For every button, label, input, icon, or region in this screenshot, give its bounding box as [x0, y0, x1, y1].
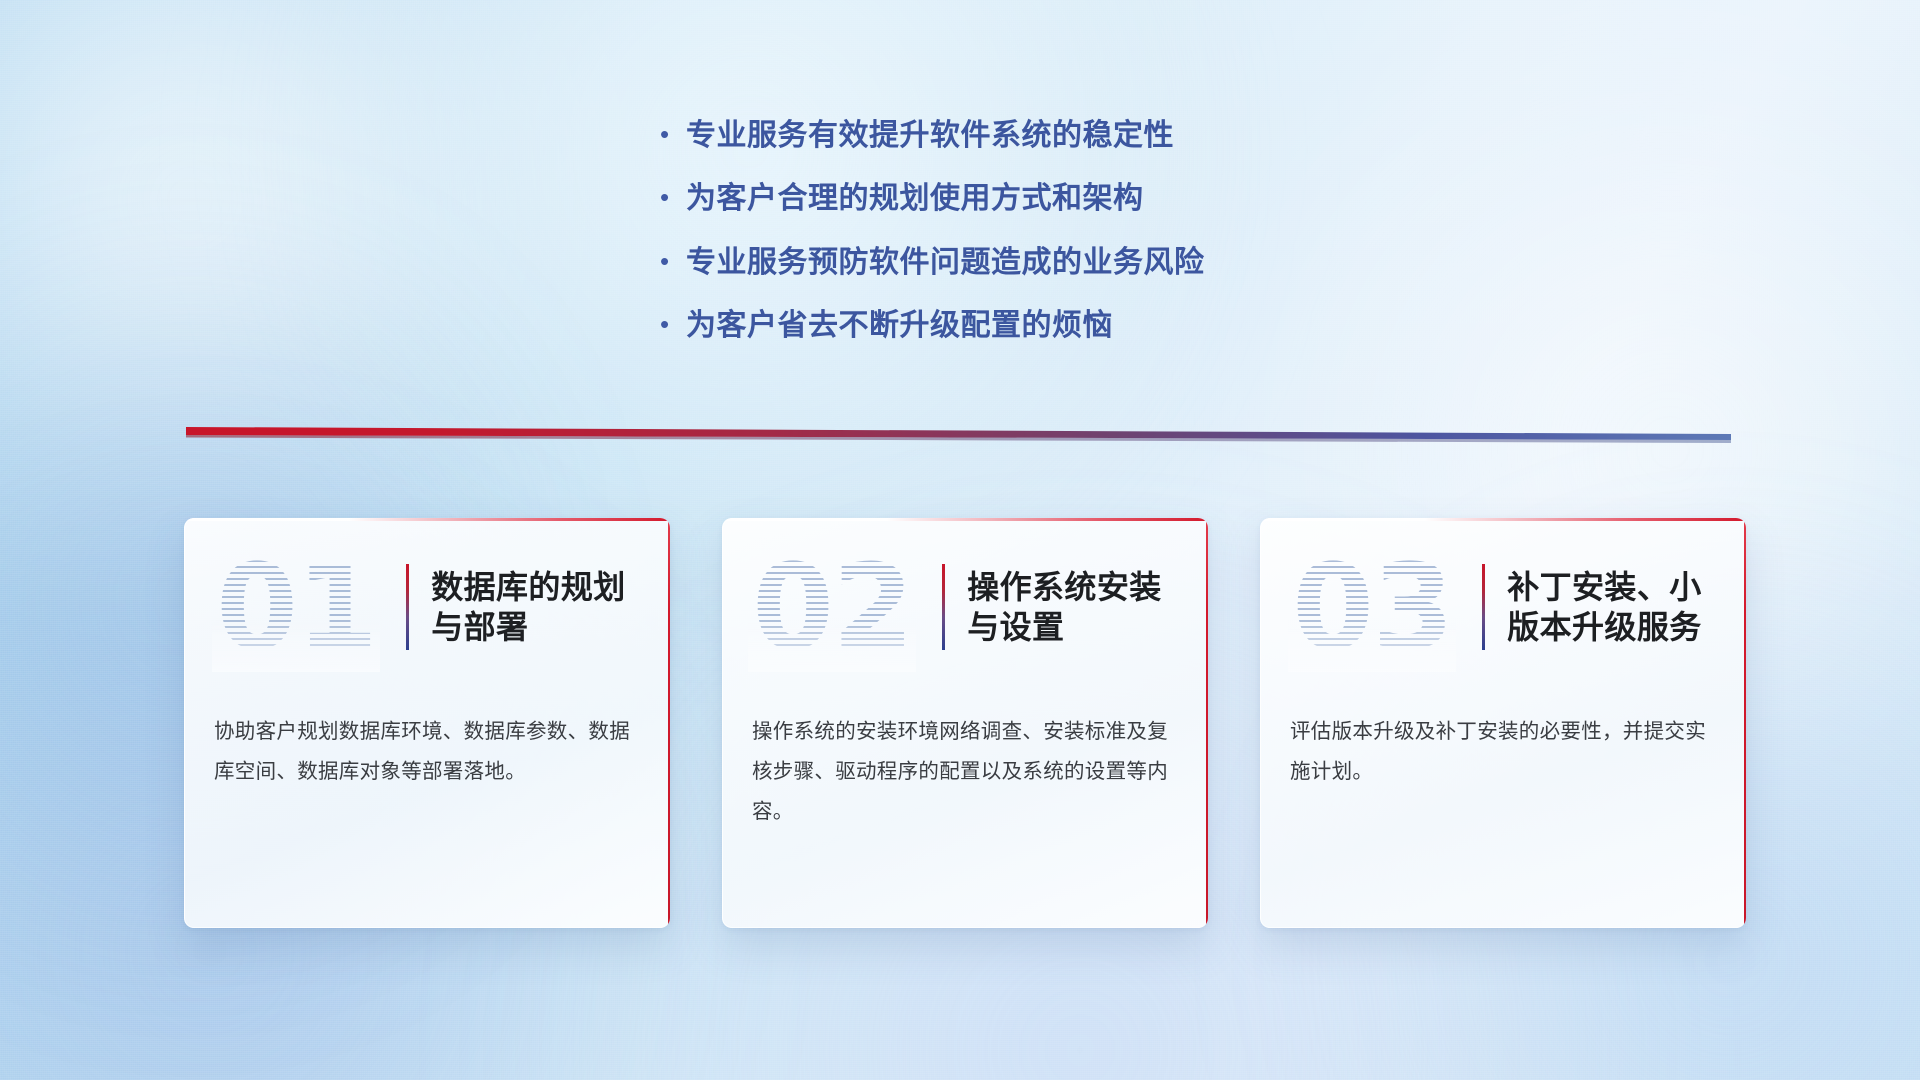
service-card[interactable]: 02 操作系统安装 与设置 操作系统的安装环境网络调查、安装标准及复核步骤、驱动…: [722, 518, 1208, 928]
card-header: 02 操作系统安装 与设置: [722, 518, 1208, 696]
card-divider-rule: [406, 564, 409, 650]
card-number-watermark: 01: [212, 548, 380, 666]
card-description: 评估版本升级及补丁安装的必要性，并提交实施计划。: [1260, 696, 1746, 792]
bullet-text: 为客户省去不断升级配置的烦恼: [686, 308, 1113, 343]
bullet-dot-icon: •: [660, 248, 686, 274]
bullet-dot-icon: •: [660, 121, 686, 147]
card-divider-rule: [942, 564, 945, 650]
service-card-grid: 01 数据库的规划 与部署 协助客户规划数据库环境、数据库参数、数据库空间、数据…: [184, 518, 1746, 928]
bullet-text: 专业服务有效提升软件系统的稳定性: [686, 118, 1174, 153]
card-title: 数据库的规划 与部署: [431, 567, 625, 648]
benefits-bullet-list: • 专业服务有效提升软件系统的稳定性 • 为客户合理的规划使用方式和架构 • 专…: [660, 118, 1420, 372]
card-header: 01 数据库的规划 与部署: [184, 518, 670, 696]
list-item: • 为客户合理的规划使用方式和架构: [660, 181, 1420, 216]
card-description: 协助客户规划数据库环境、数据库参数、数据库空间、数据库对象等部署落地。: [184, 696, 670, 792]
bullet-dot-icon: •: [660, 311, 686, 337]
bullet-dot-icon: •: [660, 184, 686, 210]
card-description: 操作系统的安装环境网络调查、安装标准及复核步骤、驱动程序的配置以及系统的设置等内…: [722, 696, 1208, 832]
bullet-text: 为客户合理的规划使用方式和架构: [686, 181, 1144, 216]
list-item: • 专业服务有效提升软件系统的稳定性: [660, 118, 1420, 153]
service-card[interactable]: 03 补丁安装、小 版本升级服务 评估版本升级及补丁安装的必要性，并提交实施计划…: [1260, 518, 1746, 928]
card-divider-rule: [1482, 564, 1485, 650]
service-card[interactable]: 01 数据库的规划 与部署 协助客户规划数据库环境、数据库参数、数据库空间、数据…: [184, 518, 670, 928]
list-item: • 为客户省去不断升级配置的烦恼: [660, 308, 1420, 343]
bullet-text: 专业服务预防软件问题造成的业务风险: [686, 245, 1205, 280]
card-number-watermark: 03: [1288, 548, 1456, 666]
card-title: 补丁安装、小 版本升级服务: [1507, 567, 1701, 648]
card-title: 操作系统安装 与设置: [967, 567, 1161, 648]
card-header: 03 补丁安装、小 版本升级服务: [1260, 518, 1746, 696]
card-number-watermark: 02: [748, 548, 916, 666]
section-divider: [186, 424, 1731, 446]
list-item: • 专业服务预防软件问题造成的业务风险: [660, 245, 1420, 280]
